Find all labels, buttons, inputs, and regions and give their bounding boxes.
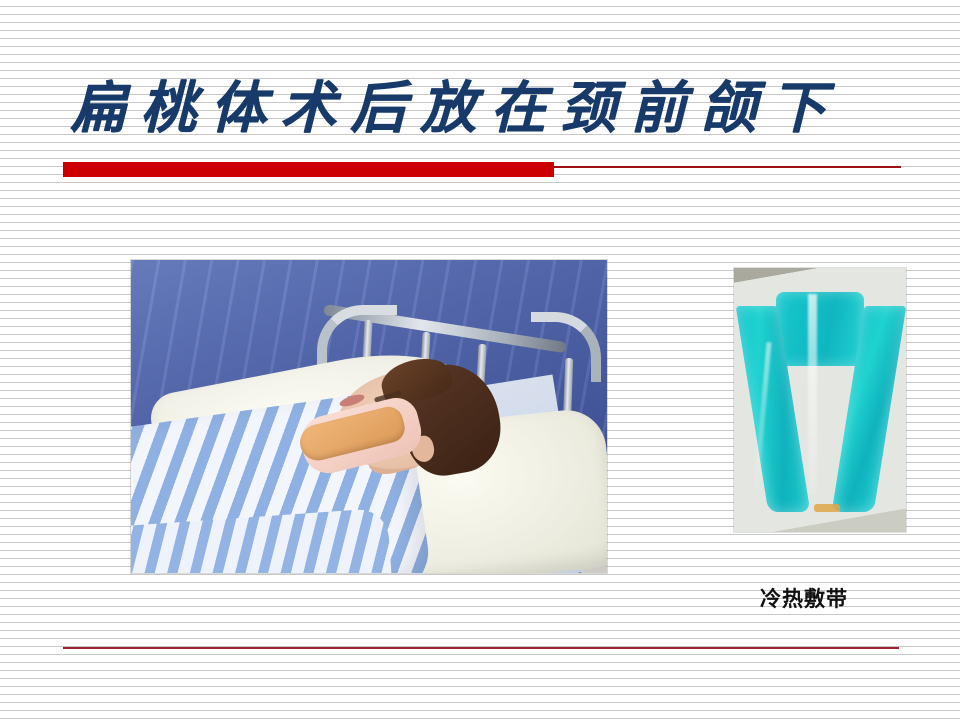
photo-caption: 冷热敷带 [760, 583, 848, 613]
cold-hot-compress-band-photo [734, 268, 906, 532]
patient-on-hospital-bed-photo [131, 260, 607, 573]
band-top-section [776, 292, 864, 366]
band-highlight [808, 294, 817, 494]
title-underline-thick [63, 162, 554, 177]
band-label-strip [814, 504, 840, 512]
page-title: 扁桃体术后放在颈前颌下 [70, 72, 890, 144]
footer-rule [63, 647, 899, 649]
compress-band-product [750, 282, 890, 518]
slide-canvas: 扁桃体术后放在颈前颌下 [0, 0, 960, 720]
